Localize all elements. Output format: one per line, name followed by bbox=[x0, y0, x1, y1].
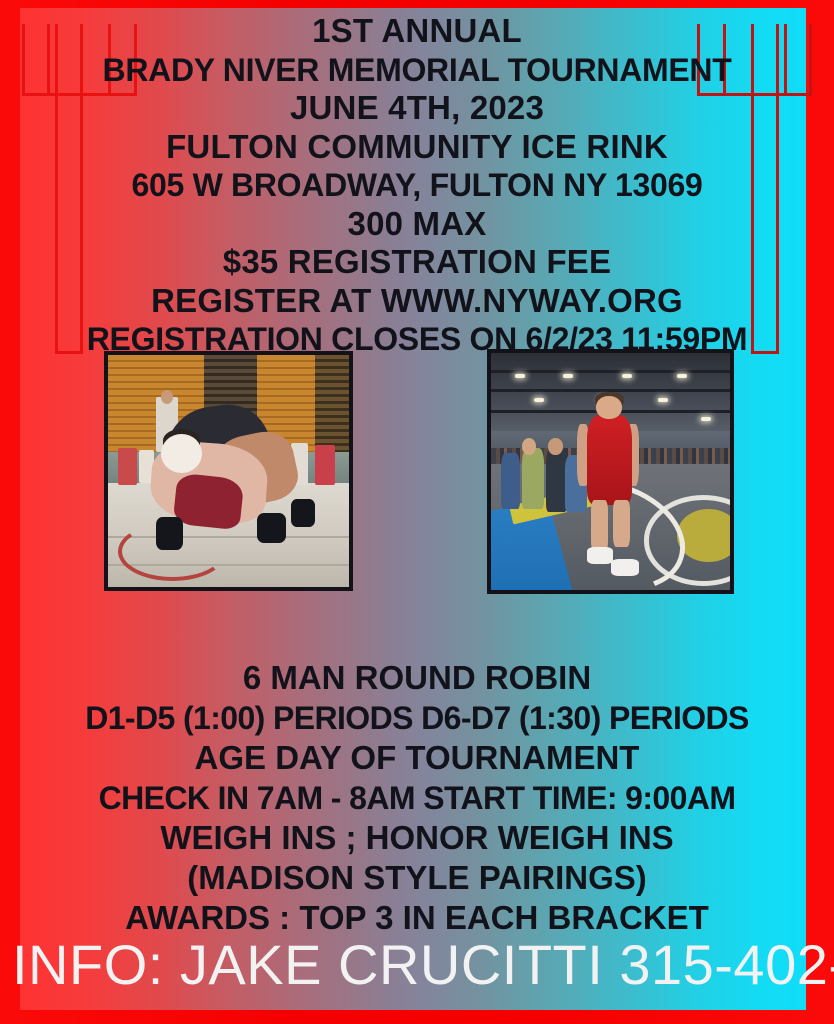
wrestler-walking-photo-scene bbox=[491, 353, 730, 590]
headline-register-site: REGISTER AT WWW.NYWAY.ORG bbox=[28, 282, 806, 321]
headline-capacity: 300 MAX bbox=[28, 205, 806, 244]
detail-periods: D1-D5 (1:00) PERIODS D6-D7 (1:30) PERIOD… bbox=[28, 698, 806, 738]
headline-text-block: 1ST ANNUAL BRADY NIVER MEMORIAL TOURNAME… bbox=[28, 12, 806, 359]
headline-fee: $35 REGISTRATION FEE bbox=[28, 243, 806, 282]
wrestler-kneepad bbox=[156, 517, 183, 549]
contact-info-footer: INFO: JAKE CRUCITTI 315-402-4247 bbox=[12, 934, 830, 996]
wrestling-match-photo bbox=[104, 351, 353, 591]
wrestling-match-photo-scene bbox=[108, 355, 349, 587]
detail-awards: AWARDS : TOP 3 IN EACH BRACKET bbox=[28, 898, 806, 938]
detail-pairings: (MADISON STYLE PAIRINGS) bbox=[28, 858, 806, 898]
headline-date: JUNE 4TH, 2023 bbox=[28, 89, 806, 128]
headline-address: 605 W BROADWAY, FULTON NY 13069 bbox=[28, 166, 806, 205]
ceiling-light bbox=[622, 374, 632, 378]
detail-check-in: CHECK IN 7AM - 8AM START TIME: 9:00AM bbox=[28, 778, 806, 818]
wrestler-shoe bbox=[291, 499, 315, 527]
headline-event-name: BRADY NIVER MEMORIAL TOURNAMENT bbox=[28, 51, 806, 90]
detail-format: 6 MAN ROUND ROBIN bbox=[28, 658, 806, 698]
wrestler-shoe-left bbox=[587, 547, 613, 564]
wrestler-red-singlet bbox=[587, 415, 632, 505]
tournament-flyer: 1ST ANNUAL BRADY NIVER MEMORIAL TOURNAME… bbox=[0, 0, 834, 1024]
gym-wall-dark-panel-2 bbox=[315, 355, 349, 452]
wrestler-leg-right bbox=[613, 500, 630, 547]
ceiling-beam bbox=[491, 389, 730, 392]
ceiling-light bbox=[534, 398, 544, 402]
ceiling-light bbox=[515, 374, 525, 378]
headline-venue: FULTON COMMUNITY ICE RINK bbox=[28, 128, 806, 167]
wrestler-headgear bbox=[161, 434, 202, 473]
ceiling-light bbox=[563, 374, 573, 378]
sideline-person bbox=[501, 453, 520, 510]
headline-edition: 1ST ANNUAL bbox=[28, 12, 806, 51]
spectator bbox=[118, 448, 137, 485]
detail-weigh-ins: WEIGH INS ; HONOR WEIGH INS bbox=[28, 818, 806, 858]
detail-age-rule: AGE DAY OF TOURNAMENT bbox=[28, 738, 806, 778]
spectator bbox=[315, 445, 334, 484]
ceiling-light bbox=[677, 374, 687, 378]
sideline-person-head bbox=[548, 438, 562, 455]
wrestler-shoe-right bbox=[611, 559, 640, 576]
sideline-person bbox=[522, 448, 544, 510]
wrestler-head bbox=[596, 396, 622, 420]
ceiling-beam bbox=[491, 370, 730, 373]
spectator-head bbox=[161, 390, 173, 404]
wrestler-kneepad bbox=[257, 513, 286, 543]
details-text-block: 6 MAN ROUND ROBIN D1-D5 (1:00) PERIODS D… bbox=[28, 658, 806, 938]
wrestler-leg-left bbox=[591, 500, 608, 552]
ceiling-light bbox=[658, 398, 668, 402]
wrestler-walking-photo bbox=[487, 349, 734, 594]
mat-circle-yellow bbox=[677, 509, 730, 561]
ceiling-light bbox=[701, 417, 711, 421]
